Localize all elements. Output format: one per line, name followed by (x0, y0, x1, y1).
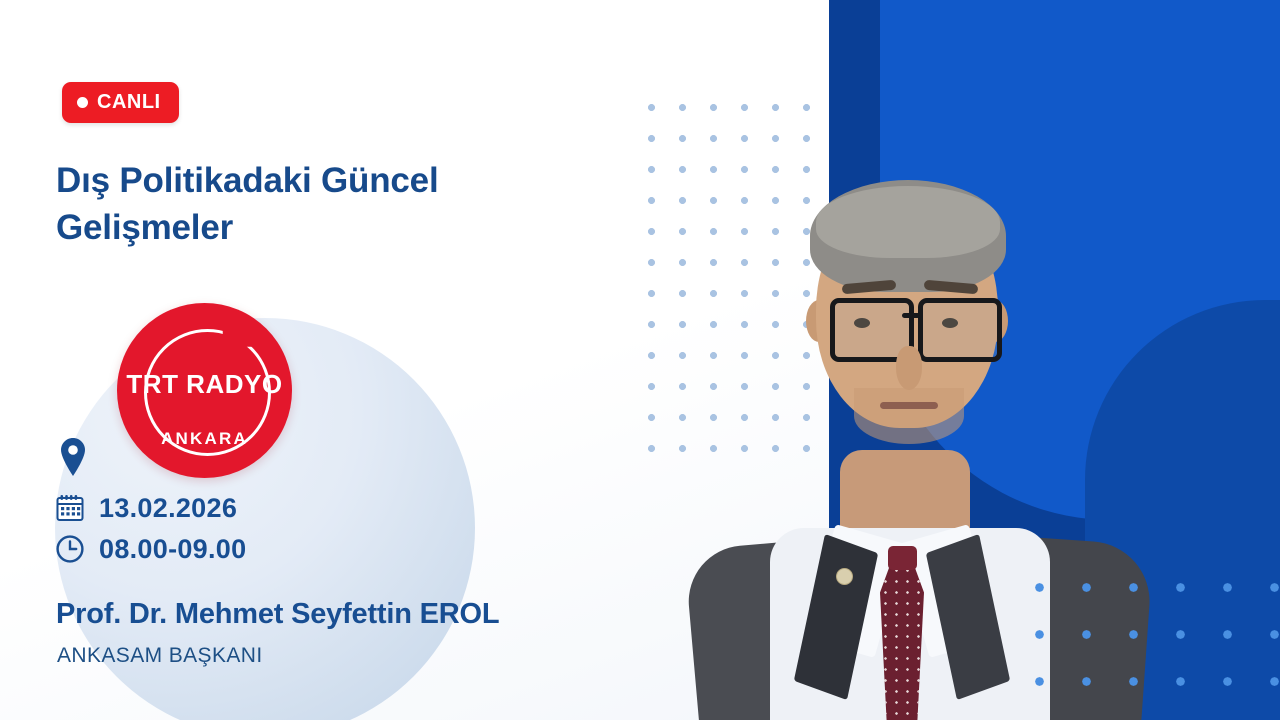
lapel-pin-icon (836, 568, 853, 585)
broadcast-promo-card: CANLI Dış Politikadaki Güncel Gelişmeler… (0, 0, 1280, 720)
eyeglasses-right-lens (918, 298, 1002, 362)
eyeglasses-bridge (902, 313, 920, 318)
live-dot-icon (77, 97, 88, 108)
program-date: 13.02.2026 (99, 493, 237, 524)
clock-icon (54, 533, 86, 565)
trt-radyo-logo: TRT RADYO ANKARA (117, 303, 292, 478)
date-row: 13.02.2026 (54, 492, 246, 524)
calendar-icon (54, 492, 86, 524)
chin-shadow (854, 388, 964, 444)
location-pin-icon (58, 437, 88, 477)
speaker-role: ANKASAM BAŞKANI (57, 644, 263, 668)
logo-city: ANKARA (117, 429, 292, 449)
time-row: 08.00-09.00 (54, 533, 246, 565)
program-meta: 13.02.2026 08.00-09.00 (54, 492, 246, 574)
live-badge: CANLI (62, 82, 179, 123)
program-time: 08.00-09.00 (99, 534, 246, 565)
live-badge-label: CANLI (97, 91, 161, 114)
logo-wordmark: TRT RADYO (117, 369, 292, 400)
hair-highlight (816, 186, 1000, 258)
mouth (880, 402, 938, 409)
necktie (880, 554, 924, 720)
dot-grid-bottom (1010, 560, 1280, 720)
necktie-knot (888, 546, 917, 570)
page-title: Dış Politikadaki Güncel Gelişmeler (56, 158, 616, 251)
nose (896, 346, 922, 390)
speaker-name: Prof. Dr. Mehmet Seyfettin EROL (56, 598, 499, 631)
